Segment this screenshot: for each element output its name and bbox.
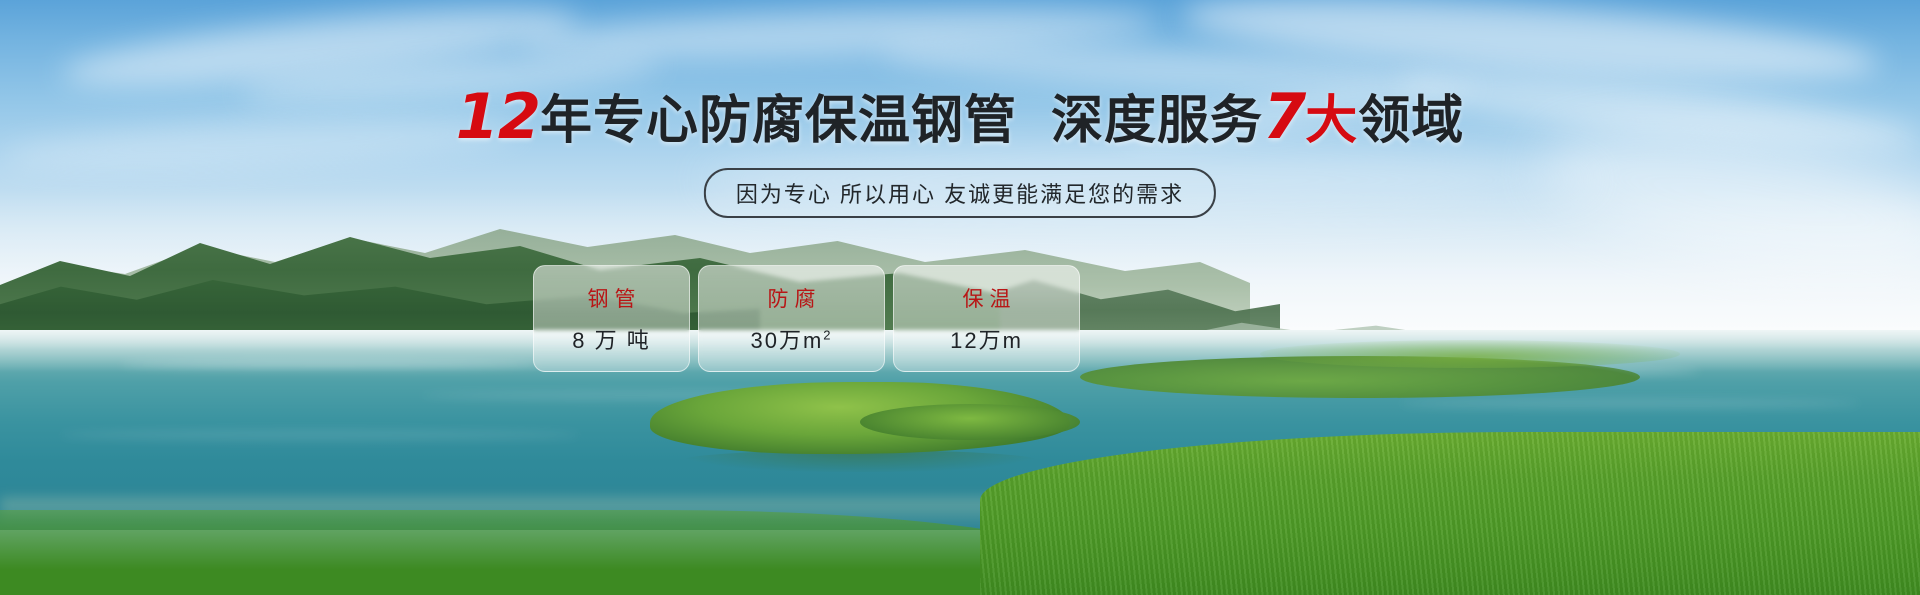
stat-label: 防腐 [762,283,822,313]
subtitle-pill: 因为专心 所以用心 友诚更能满足您的需求 [704,168,1216,218]
headline-years-number: 12 [456,80,540,153]
grass-island-spur [860,404,1080,440]
headline-fields-number: 7 [1263,80,1305,153]
stat-value: 30万m2 [750,323,832,355]
stat-value-superscript: 2 [823,327,832,342]
stat-card-group: 钢管 8 万 吨 防腐 30万m2 保温 12万m [533,265,1080,372]
water-ripple [120,360,540,368]
stat-value: 8 万 吨 [572,323,650,355]
stat-value-text: 8 万 吨 [572,328,650,353]
water-ripple [1400,400,1860,407]
subtitle-text: 因为专心 所以用心 友诚更能满足您的需求 [736,177,1184,209]
stat-card-steel-pipe[interactable]: 钢管 8 万 吨 [533,265,690,372]
grass-texture [980,432,1920,595]
headline-part2-text: 深度服务 [1051,91,1263,151]
water-ripple [60,430,580,440]
stat-label: 保温 [957,283,1017,313]
marsh-right-far [1260,340,1680,368]
headline-part1-text: 年专心防腐保温钢管 [540,91,1017,151]
stat-value-text: 30万m [750,328,823,353]
headline-fields-unit: 大 [1305,91,1358,151]
stat-value-text: 12万m [950,328,1023,353]
headline: 12年专心防腐保温钢管深度服务7大领域 [0,88,1920,150]
stat-card-anticorrosion[interactable]: 防腐 30万m2 [698,265,885,372]
hero-banner: 12年专心防腐保温钢管深度服务7大领域 因为专心 所以用心 友诚更能满足您的需求… [0,0,1920,595]
stat-card-insulation[interactable]: 保温 12万m [893,265,1080,372]
stat-label: 钢管 [582,283,642,313]
headline-part2-tail: 领域 [1358,91,1464,151]
stat-value: 12万m [950,323,1023,355]
grass-foreground-left [0,510,1100,595]
